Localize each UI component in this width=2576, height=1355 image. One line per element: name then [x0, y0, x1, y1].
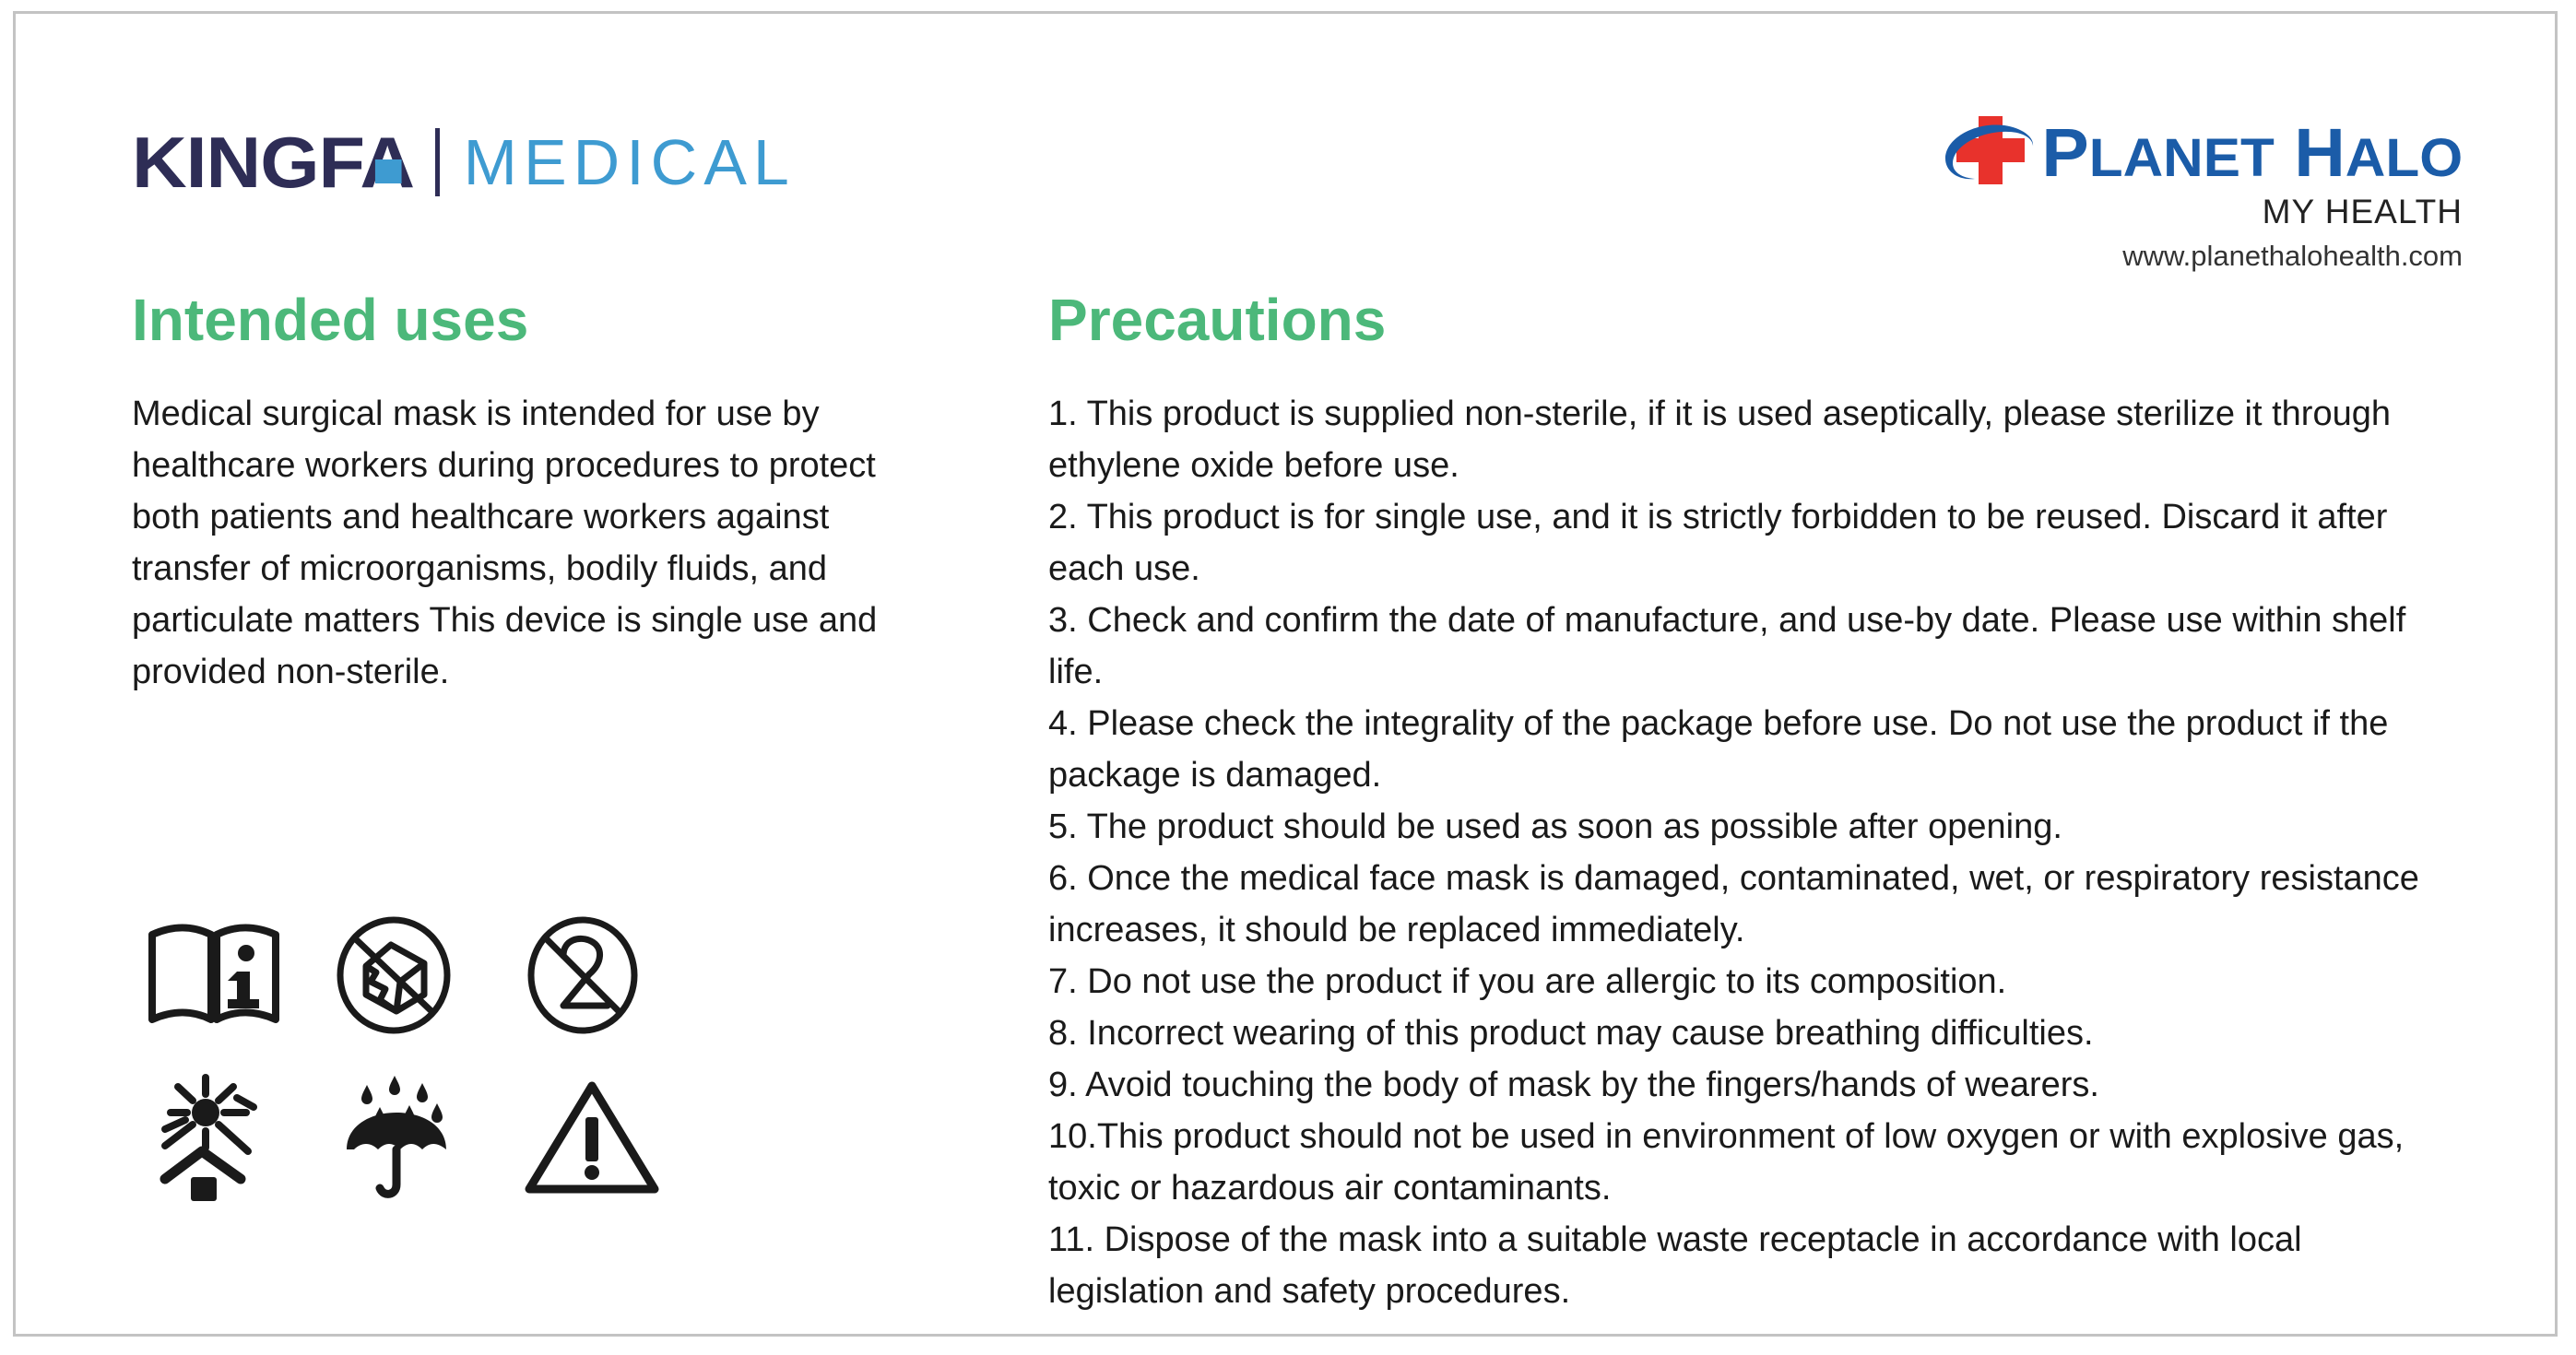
caution-icon	[523, 1077, 661, 1196]
planet-halo-logo: PLANET HALO MY HEALTH www.planethaloheal…	[1836, 113, 2463, 271]
precautions-list: 1. This product is supplied non-sterile,…	[1048, 388, 2459, 1317]
kingfa-wordmark-text: KINGFA	[132, 122, 414, 203]
planet-halo-logo-main: PLANET HALO	[1836, 113, 2463, 193]
planet-halo-website: www.planethalohealth.com	[1836, 242, 2463, 272]
do-not-reuse-icon	[523, 915, 643, 1035]
medical-cross-orbit-icon	[1938, 111, 2045, 195]
label-page-frame: KINGFA MEDICAL PLANET HALO MY HEALTH www…	[13, 11, 2558, 1337]
precaution-item: 3. Check and confirm the date of manufac…	[1048, 595, 2459, 698]
precautions-title: Precautions	[1048, 290, 2459, 349]
keep-dry-icon	[334, 1072, 463, 1201]
halo-h: H	[2294, 114, 2346, 191]
kingfa-wordmark: KINGFA	[132, 126, 414, 198]
precaution-item: 10.This product should not be used in en…	[1048, 1111, 2459, 1214]
precaution-item: 9. Avoid touching the body of mask by th…	[1048, 1059, 2459, 1111]
halo-alo: ALO	[2346, 128, 2463, 188]
precaution-item: 2. This product is for single use, and i…	[1048, 491, 2459, 595]
symbol-cell	[145, 894, 334, 1055]
logo-divider	[435, 128, 440, 196]
kingfa-medical-subbrand: MEDICAL	[464, 130, 796, 194]
do-not-use-if-package-damaged-icon	[334, 915, 454, 1035]
intended-uses-title: Intended uses	[132, 290, 943, 349]
symbol-cell	[334, 1055, 523, 1217]
halo-lanet: LANET	[2089, 128, 2275, 188]
kingfa-accent-square	[375, 159, 402, 183]
consult-instructions-for-use-icon	[145, 920, 283, 1031]
symbol-cell	[145, 1055, 334, 1217]
intended-uses-section: Intended uses Medical surgical mask is i…	[132, 290, 943, 698]
precaution-item: 8. Incorrect wearing of this product may…	[1048, 1007, 2459, 1059]
precaution-item: 1. This product is supplied non-sterile,…	[1048, 388, 2459, 491]
halo-p: P	[2041, 114, 2088, 191]
keep-away-from-sunlight-icon	[145, 1072, 274, 1201]
precautions-section: Precautions 1. This product is supplied …	[1048, 290, 2459, 1317]
regulatory-symbols	[145, 894, 712, 1217]
precaution-item: 5. The product should be used as soon as…	[1048, 801, 2459, 853]
symbol-cell	[523, 1055, 712, 1217]
symbol-cell	[334, 894, 523, 1055]
symbol-cell	[523, 894, 712, 1055]
label-sheet: KINGFA MEDICAL PLANET HALO MY HEALTH www…	[16, 14, 2555, 1334]
planet-halo-wordmark: PLANET HALO	[2041, 119, 2463, 187]
precaution-item: 6. Once the medical face mask is damaged…	[1048, 853, 2459, 956]
precaution-item: 11. Dispose of the mask into a suitable …	[1048, 1214, 2459, 1317]
precaution-item: 4. Please check the integrality of the p…	[1048, 698, 2459, 801]
kingfa-medical-logo: KINGFA MEDICAL	[132, 123, 796, 202]
intended-uses-body: Medical surgical mask is intended for us…	[132, 388, 943, 698]
planet-halo-tagline: MY HEALTH	[1836, 194, 2463, 230]
precaution-item: 7. Do not use the product if you are all…	[1048, 956, 2459, 1007]
